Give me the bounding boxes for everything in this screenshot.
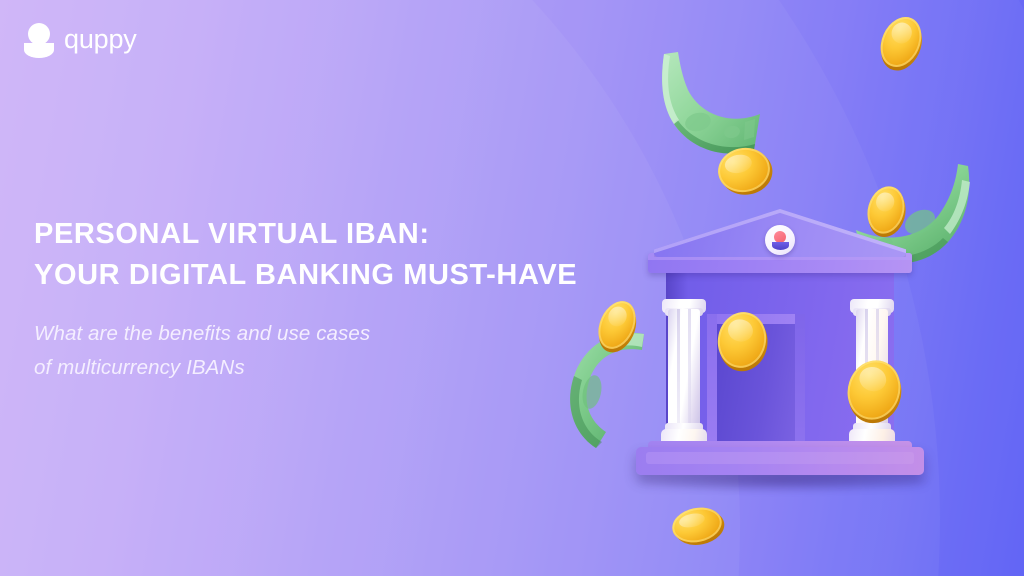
- copy-block: PERSONAL VIRTUAL IBAN: YOUR DIGITAL BANK…: [34, 214, 654, 384]
- coin-top-right: [873, 11, 929, 74]
- quppy-avatar-icon-medallion: [772, 231, 789, 250]
- bank-base: [636, 447, 924, 475]
- headline-line-1: PERSONAL VIRTUAL IBAN:: [34, 214, 654, 255]
- coin-bottom: [669, 503, 725, 547]
- headline-line-2: YOUR DIGITAL BANKING MUST-HAVE: [34, 255, 654, 296]
- brand-logo[interactable]: quppy: [24, 22, 137, 56]
- bank-column-left: [662, 295, 706, 447]
- marketing-banner: quppy PERSONAL VIRTUAL IBAN: YOUR DIGITA…: [0, 0, 1024, 576]
- coin-behind-note-top: [715, 144, 774, 196]
- bank-building: [640, 215, 920, 475]
- brand-name: quppy: [64, 26, 137, 53]
- subheadline-line-2: of multicurrency IBANs: [34, 352, 654, 384]
- bank-doorway-frame-right: [795, 314, 805, 443]
- bank-logo-medallion: [765, 225, 795, 255]
- subheadline-line-1: What are the benefits and use cases: [34, 318, 654, 350]
- bank-pediment: [654, 209, 906, 261]
- quppy-avatar-icon: [24, 22, 54, 56]
